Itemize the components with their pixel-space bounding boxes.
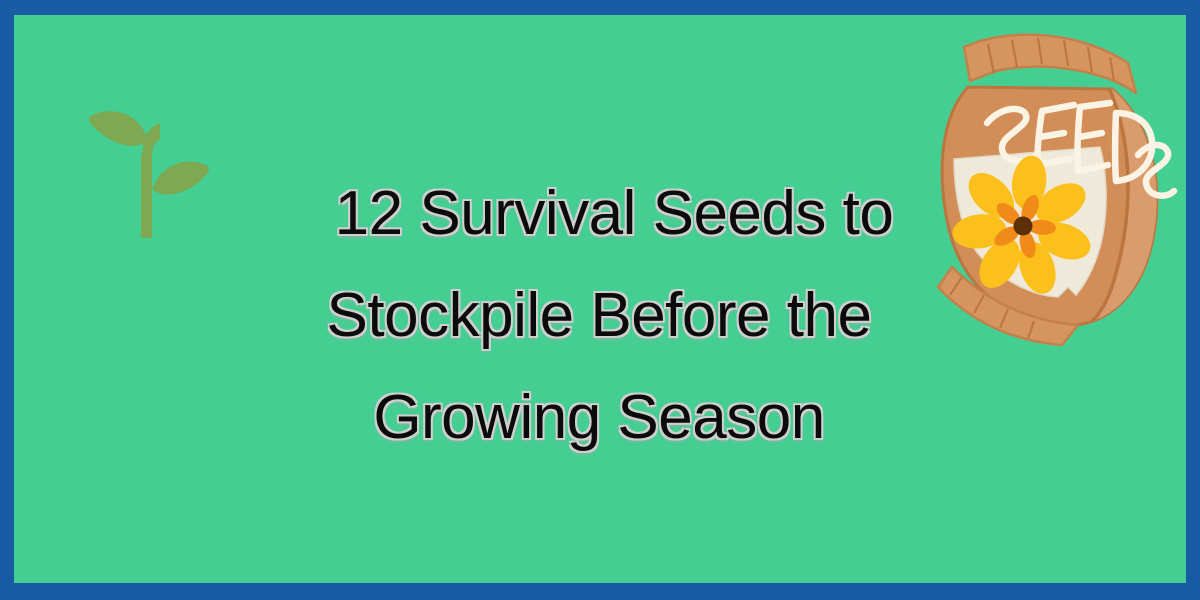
banner-canvas: 12 Survival Seeds to Stockpile Before th… bbox=[14, 15, 1186, 583]
banner-title: 12 Survival Seeds to Stockpile Before th… bbox=[14, 163, 1186, 469]
title-line-2: Stockpile Before the bbox=[53, 265, 1145, 367]
banner-frame: 12 Survival Seeds to Stockpile Before th… bbox=[0, 0, 1200, 600]
title-line-3: Growing Season bbox=[53, 367, 1145, 469]
title-line-1: 12 Survival Seeds to bbox=[68, 163, 1160, 265]
